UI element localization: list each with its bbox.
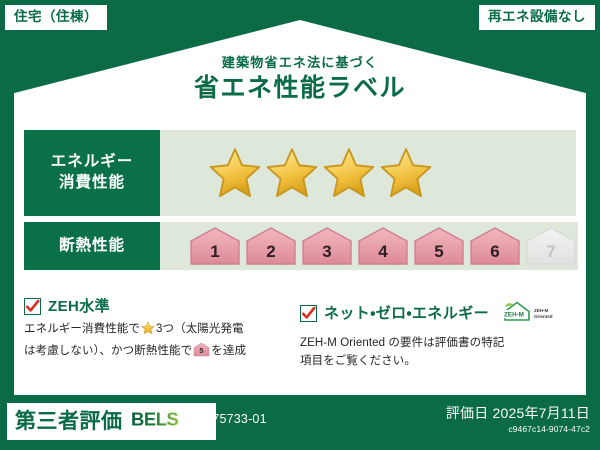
feature-zeh-desc-part3: は考慮しない）、かつ断熱性能で (24, 345, 192, 357)
label-footer: 第三者評価 BELS 0275733-01 評価日 2025年7月11日 c94… (0, 398, 600, 450)
house-step-icon: 3 (300, 225, 354, 267)
house-step-label: 7 (546, 242, 555, 261)
building-type-tag: 住宅（住棟） (5, 5, 107, 30)
renewable-equipment-tag: 再エネ設備なし (479, 5, 595, 30)
features-section: ZEH水準 エネルギー消費性能で 3つ（太陽光発電 (24, 298, 576, 371)
house-step-icon: 6 (468, 225, 522, 267)
house-step-icon: 4 (356, 225, 410, 267)
rating-row-insulation: 断熱性能 1234567 (24, 222, 576, 270)
certificate-number: 0275733-01 (198, 413, 267, 426)
bels-logo-text: BELS (131, 409, 179, 430)
star-icon (379, 146, 433, 200)
house-step-icon: 7 (524, 225, 578, 267)
feature-zeh-desc-part4: を達成 (211, 345, 246, 357)
ratings-section: エネルギー 消費性能 断熱性能 1234567 (24, 130, 576, 276)
house-step-icon: 1 (188, 225, 242, 267)
label-title-block: 建築物省エネ法に基づく 省エネ性能ラベル (0, 56, 600, 101)
house-step-label: 3 (322, 242, 331, 261)
rating-label-insulation-text: 断熱性能 (59, 236, 125, 257)
feature-zeh-desc-part1: エネルギー消費性能で (24, 323, 140, 335)
small-house-badge-icon: 5 (193, 342, 210, 364)
house-step-label: 4 (378, 242, 388, 261)
feature-nze-header: ネット・ゼロ・エネルギー ZEH-M ZEH-M Oriented (300, 298, 566, 329)
feature-zeh-title: ZEH水準 (48, 299, 110, 314)
zeh-m-logo-sub2: Oriented (534, 314, 553, 319)
star-rating (160, 146, 433, 200)
bels-plate: 第三者評価 BELS (7, 403, 216, 440)
rating-label-insulation: 断熱性能 (24, 222, 160, 270)
evaluation-date: 評価日 2025年7月11日 (446, 406, 590, 420)
rating-row-energy: エネルギー 消費性能 (24, 130, 576, 216)
house-step-label: 6 (490, 242, 499, 261)
rating-label-energy-line1: エネルギー (51, 153, 134, 170)
house-step-label: 1 (210, 242, 219, 261)
house-step-icon: 5 (412, 225, 466, 267)
house-step-icon: 2 (244, 225, 298, 267)
feature-zeh-suijun: ZEH水準 エネルギー消費性能で 3つ（太陽光発電 (24, 298, 300, 371)
energy-performance-label: 住宅（住棟） 再エネ設備なし 建築物省エネ法に基づく 省エネ性能ラベル エネルギ… (0, 0, 600, 450)
house-step-label: 2 (266, 242, 275, 261)
third-party-eval-text: 第三者評価 (15, 411, 123, 432)
check-icon (300, 304, 317, 323)
feature-nze-title: ネット・ゼロ・エネルギー (324, 306, 489, 321)
feature-net-zero-energy: ネット・ゼロ・エネルギー ZEH-M ZEH-M Oriented (300, 298, 576, 371)
check-icon (24, 297, 41, 316)
star-icon (322, 146, 376, 200)
title-subtitle: 建築物省エネ法に基づく (0, 56, 600, 69)
rating-label-energy-line2: 消費性能 (59, 174, 125, 191)
rating-value-insulation: 1234567 (160, 222, 578, 270)
feature-zeh-header: ZEH水準 (24, 298, 290, 315)
bels-logo: BELS (130, 407, 208, 435)
page-title: 省エネ性能ラベル (0, 76, 600, 101)
nze-checkbox[interactable] (300, 305, 317, 322)
feature-zeh-desc-part2: 3つ（太陽光発電 (156, 323, 244, 335)
zeh-m-logo-sub1: ZEH-M (534, 308, 548, 313)
feature-nze-description: ZEH-M Oriented の要件は評価書の特記 項目をご覧ください。 (300, 335, 566, 371)
rating-value-energy (160, 130, 576, 216)
zeh-m-logo-text: ZEH-M (504, 312, 524, 319)
small-house-badge-value: 5 (200, 346, 204, 355)
feature-zeh-description: エネルギー消費性能で 3つ（太陽光発電 は考慮しない）、かつ断熱性能で (24, 321, 290, 364)
feature-nze-desc-line1: ZEH-M Oriented の要件は評価書の特記 (300, 337, 504, 349)
house-step-label: 5 (434, 242, 443, 261)
house-rating-scale: 1234567 (160, 225, 578, 267)
star-icon (208, 146, 262, 200)
zeh-m-oriented-logo: ZEH-M ZEH-M Oriented (498, 298, 560, 329)
star-icon (265, 146, 319, 200)
rating-label-energy: エネルギー 消費性能 (24, 130, 160, 216)
feature-nze-desc-line2: 項目をご覧ください。 (300, 355, 416, 367)
zeh-checkbox[interactable] (24, 298, 41, 315)
small-star-icon (141, 321, 155, 342)
evaluation-hash: c9467c14-9074-47c2 (508, 425, 590, 434)
